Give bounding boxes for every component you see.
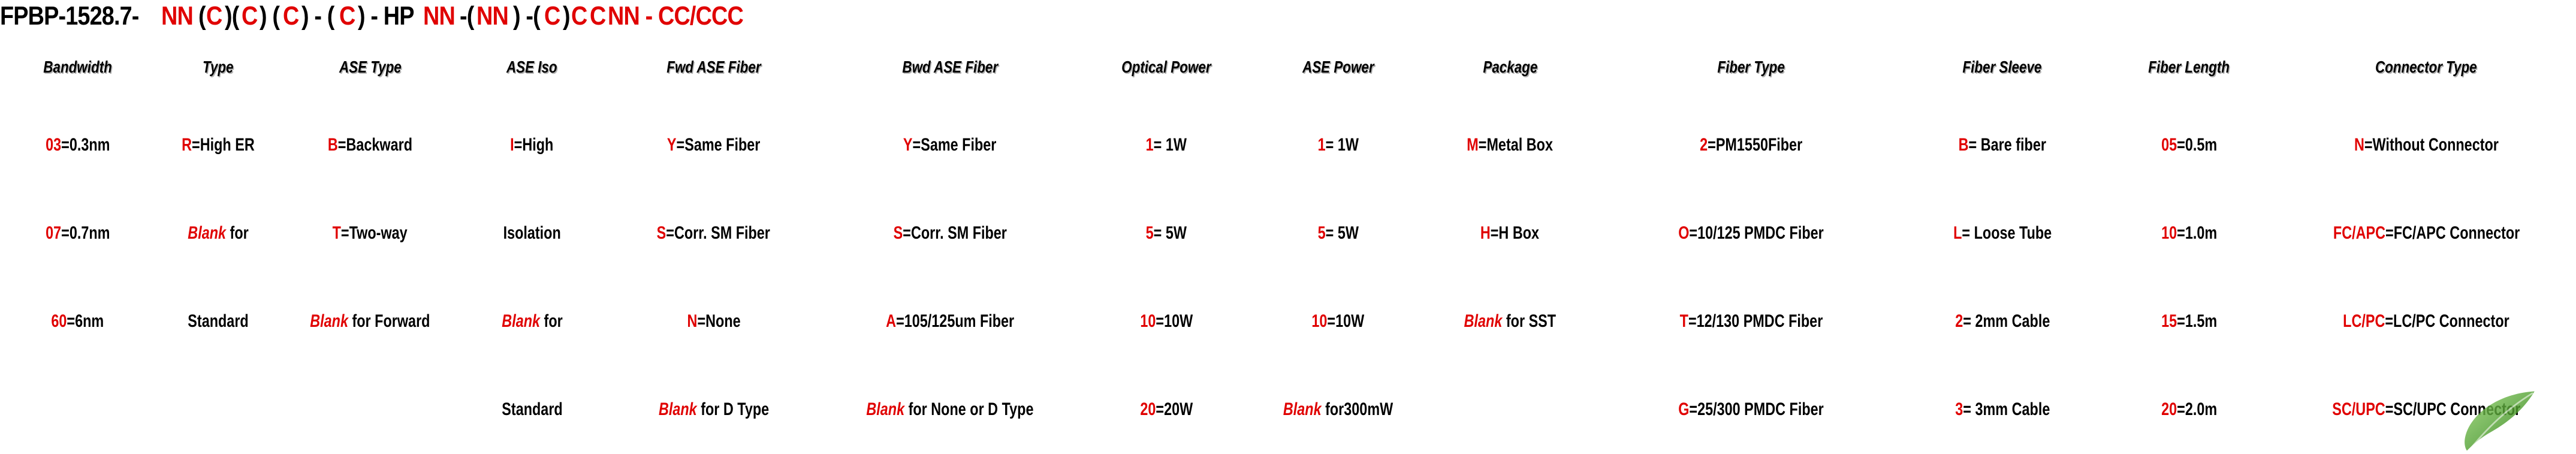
option-description: Two-way xyxy=(349,223,408,243)
option-cell: 10=1.0m xyxy=(2101,189,2276,277)
part-number-segment: -( xyxy=(460,3,473,29)
option-separator: = xyxy=(1690,223,1698,243)
option-description: SC/UPC Connector xyxy=(2393,399,2520,419)
option-separator: = xyxy=(1690,399,1698,419)
option-cell-content: FC/APC=FC/APC Connector xyxy=(2333,223,2520,243)
option-code: LC/PC xyxy=(2343,311,2385,331)
option-code: S xyxy=(657,223,666,243)
option-description: 0.5m xyxy=(2185,135,2217,155)
option-description: Same Fiber xyxy=(921,135,997,155)
option-cell-content: N=None xyxy=(687,311,740,332)
option-description: 1.5m xyxy=(2185,311,2217,331)
option-cell-content: 10=10W xyxy=(1312,311,1365,332)
option-separator: = xyxy=(1963,311,1971,331)
option-description: PM1550Fiber xyxy=(1716,135,1802,155)
option-code: Blank xyxy=(1283,399,1322,419)
option-cell-content: R=High ER xyxy=(182,135,255,155)
option-cell-content: 3= 3mm Cable xyxy=(1955,399,2050,420)
part-number-segment: ) xyxy=(563,3,570,29)
option-description: 2.0m xyxy=(2185,399,2217,419)
option-description: 10W xyxy=(1164,311,1193,331)
option-separator: = xyxy=(2177,311,2185,331)
option-description: 25/300 PMDC Fiber xyxy=(1697,399,1824,419)
option-cell-content: Blank for None or D Type xyxy=(866,399,1033,420)
option-cell: M=Metal Box xyxy=(1421,101,1600,189)
option-description: High xyxy=(523,135,554,155)
option-cell: 10=10W xyxy=(1077,278,1256,366)
option-description: 10W xyxy=(1336,311,1365,331)
option-description: LC/PC Connector xyxy=(2393,311,2509,331)
part-number-segment: C xyxy=(544,3,560,29)
column-header: ASE Type xyxy=(298,34,441,101)
option-description: Same Fiber xyxy=(684,135,760,155)
option-code: 20 xyxy=(1140,399,1156,419)
option-description: Bare fiber xyxy=(1977,135,2046,155)
option-cell: S=Corr. SM Fiber xyxy=(605,189,823,277)
option-description: 0.3nm xyxy=(70,135,110,155)
column-header: Type xyxy=(168,34,269,101)
part-number-segment: ) - HP xyxy=(358,3,414,29)
option-cell-content: A=105/125um Fiber xyxy=(886,311,1014,332)
table-body: 03=0.3nmR=High ERB=BackwardI=HighY=Same … xyxy=(0,101,2576,454)
option-cell: Standard xyxy=(155,278,280,366)
option-code: L xyxy=(1953,223,1962,243)
option-cell: S=Corr. SM Fiber xyxy=(823,189,1078,277)
option-description: 1W xyxy=(1162,135,1187,155)
column-header: Fwd ASE Fiber xyxy=(626,34,801,101)
option-description: FC/APC Connector xyxy=(2393,223,2520,243)
option-cell-content: B= Bare fiber xyxy=(1959,135,2046,155)
option-cell: 03=0.3nm xyxy=(0,101,155,189)
option-code: N xyxy=(2354,135,2364,155)
option-cell-content: 5= 5W xyxy=(1318,223,1359,243)
option-separator: = xyxy=(1156,399,1164,419)
option-code: S xyxy=(893,223,903,243)
option-cell: SC/UPC=SC/UPC Connector xyxy=(2276,366,2576,454)
option-cell-content: Blank for xyxy=(188,223,248,243)
option-code: 10 xyxy=(1312,311,1328,331)
option-code: 20 xyxy=(2161,399,2177,419)
option-description: None xyxy=(705,311,741,331)
option-separator: = xyxy=(2385,223,2394,243)
option-cell: Blank for SST xyxy=(1421,278,1600,366)
option-code: 3 xyxy=(1955,399,1963,419)
option-cell: N=None xyxy=(605,278,823,366)
option-description: 5W xyxy=(1162,223,1187,243)
option-cell: 2=PM1550Fiber xyxy=(1599,101,1903,189)
option-cell-content: Standard xyxy=(188,311,248,332)
option-cell: 1= 1W xyxy=(1077,101,1256,189)
option-cell xyxy=(155,366,280,454)
option-description: for xyxy=(226,223,249,243)
column-header: Fiber Sleeve xyxy=(1923,34,2082,101)
option-code: Blank xyxy=(866,399,904,419)
table-row: 60=6nmStandardBlank for ForwardBlank for… xyxy=(0,278,2576,366)
option-description: H Box xyxy=(1499,223,1540,243)
option-cell: FC/APC=FC/APC Connector xyxy=(2276,189,2576,277)
part-number-segment: NN - CC/CCC xyxy=(608,3,743,29)
option-cell-content: Blank for300mW xyxy=(1283,399,1393,420)
option-code: T xyxy=(333,223,341,243)
option-code: T xyxy=(1680,311,1688,331)
option-cell-content: I=High xyxy=(510,135,553,155)
part-number-segment: ) - ( xyxy=(301,3,334,29)
option-separator: = xyxy=(1479,135,1487,155)
option-cell-content: 05=0.5m xyxy=(2161,135,2217,155)
part-number-segment: C xyxy=(283,3,298,29)
option-cell: 3= 3mm Cable xyxy=(1903,366,2101,454)
option-cell: Blank for xyxy=(459,278,605,366)
table-row: StandardBlank for D TypeBlank for None o… xyxy=(0,366,2576,454)
option-separator: = xyxy=(1962,223,1970,243)
option-description: Without Connector xyxy=(2372,135,2498,155)
option-cell-content: G=25/300 PMDC Fiber xyxy=(1679,399,1824,420)
option-cell: G=25/300 PMDC Fiber xyxy=(1599,366,1903,454)
option-description: Backward xyxy=(346,135,412,155)
option-cell: Y=Same Fiber xyxy=(823,101,1078,189)
option-separator: = xyxy=(61,223,70,243)
option-cell: Blank for300mW xyxy=(1256,366,1421,454)
option-code: 2 xyxy=(1700,135,1708,155)
option-cell-content: M=Metal Box xyxy=(1467,135,1554,155)
option-separator: = xyxy=(2385,311,2394,331)
option-separator: = xyxy=(1969,135,1977,155)
column-header: ASE Iso xyxy=(474,34,590,101)
column-header: Bandwidth xyxy=(16,34,140,101)
option-cell-content: H=H Box xyxy=(1480,223,1539,243)
option-cell-content: 1= 1W xyxy=(1318,135,1359,155)
option-separator: = xyxy=(61,135,70,155)
column-header: Fiber Length xyxy=(2119,34,2259,101)
option-cell: 05=0.5m xyxy=(2101,101,2276,189)
option-code: 60 xyxy=(52,311,67,331)
part-number-segment: NN xyxy=(476,3,508,29)
option-code: 1 xyxy=(1318,135,1326,155)
option-separator: = xyxy=(341,223,349,243)
option-separator: = xyxy=(1156,311,1164,331)
option-code: Blank xyxy=(1464,311,1503,331)
option-description: Loose Tube xyxy=(1970,223,2052,243)
option-description: 3mm Cable xyxy=(1971,399,2050,419)
option-cell: B= Bare fiber xyxy=(1903,101,2101,189)
option-cell-content: 03=0.3nm xyxy=(46,135,110,155)
option-cell-content: Y=Same Fiber xyxy=(667,135,760,155)
option-code: A xyxy=(886,311,896,331)
option-cell: R=High ER xyxy=(155,101,280,189)
option-description: 5W xyxy=(1334,223,1359,243)
option-code: B xyxy=(328,135,338,155)
option-cell-content: 10=1.0m xyxy=(2161,223,2217,243)
option-separator: = xyxy=(913,135,921,155)
part-number-segment: ( xyxy=(198,3,206,29)
option-code: Y xyxy=(903,135,913,155)
option-separator: = xyxy=(514,135,523,155)
option-cell: 07=0.7nm xyxy=(0,189,155,277)
column-header: Package xyxy=(1438,34,1581,101)
part-number-segment: C xyxy=(339,3,355,29)
option-description: 20W xyxy=(1164,399,1193,419)
option-separator: = xyxy=(697,311,705,331)
option-separator: = xyxy=(1154,223,1162,243)
option-description: for xyxy=(540,311,563,331)
option-code: O xyxy=(1679,223,1690,243)
option-description: for Forward xyxy=(348,311,430,331)
option-description: 105/125um Fiber xyxy=(904,311,1014,331)
option-cell: N=Without Connector xyxy=(2276,101,2576,189)
option-cell: Standard xyxy=(459,366,605,454)
option-separator: = xyxy=(1688,311,1697,331)
option-code: R xyxy=(182,135,192,155)
option-cell-content: S=Corr. SM Fiber xyxy=(893,223,1006,243)
option-cell-content: 15=1.5m xyxy=(2161,311,2217,332)
option-description: Standard xyxy=(502,399,562,419)
option-cell: I=High xyxy=(459,101,605,189)
option-cell-content: L= Loose Tube xyxy=(1953,223,2052,243)
option-cell-content: SC/UPC=SC/UPC Connector xyxy=(2332,399,2520,420)
part-number-segment: NN xyxy=(161,3,193,29)
option-description: 1W xyxy=(1334,135,1359,155)
option-code: FC/APC xyxy=(2333,223,2385,243)
part-number-code: FPBP-1528.7-NN(C)(C) (C) - (C) - HPNN -(… xyxy=(0,0,2576,32)
option-separator: = xyxy=(2364,135,2373,155)
option-cell-content: Blank for SST xyxy=(1464,311,1556,332)
option-cell: 10=10W xyxy=(1256,278,1421,366)
option-cell-content: 5= 5W xyxy=(1146,223,1187,243)
option-description: Corr. SM Fiber xyxy=(674,223,770,243)
part-number-segment: C xyxy=(242,3,257,29)
option-code: 5 xyxy=(1146,223,1154,243)
option-cell: L= Loose Tube xyxy=(1903,189,2101,277)
option-cell xyxy=(1421,366,1600,454)
option-cell: Blank for D Type xyxy=(605,366,823,454)
option-cell-content: N=Without Connector xyxy=(2354,135,2499,155)
option-cell: 5= 5W xyxy=(1077,189,1256,277)
option-cell-content: 2=PM1550Fiber xyxy=(1700,135,1802,155)
option-separator: = xyxy=(338,135,346,155)
part-number-segment: NN xyxy=(423,3,455,29)
option-separator: = xyxy=(1708,135,1716,155)
option-code: 1 xyxy=(1146,135,1154,155)
part-number-segment: FPBP-1528.7- xyxy=(0,3,139,29)
option-code: G xyxy=(1679,399,1690,419)
option-code: M xyxy=(1467,135,1479,155)
option-code: 15 xyxy=(2161,311,2177,331)
option-cell-content: LC/PC=LC/PC Connector xyxy=(2343,311,2509,332)
option-cell-content: Isolation xyxy=(503,223,560,243)
column-header: Bwd ASE Fiber xyxy=(848,34,1052,101)
option-separator: = xyxy=(1328,311,1336,331)
option-separator: = xyxy=(896,311,904,331)
option-cell: T=Two-way xyxy=(281,189,460,277)
option-description: 10/125 PMDC Fiber xyxy=(1697,223,1824,243)
table-row: 03=0.3nmR=High ERB=BackwardI=HighY=Same … xyxy=(0,101,2576,189)
option-cell xyxy=(0,366,155,454)
column-header: Fiber Type xyxy=(1630,34,1873,101)
option-code: Blank xyxy=(502,311,540,331)
option-cell: Blank for xyxy=(155,189,280,277)
option-cell: Blank for None or D Type xyxy=(823,366,1078,454)
option-description: 1.0m xyxy=(2185,223,2217,243)
option-description: for SST xyxy=(1502,311,1556,331)
option-code: B xyxy=(1959,135,1969,155)
option-cell: 2= 2mm Cable xyxy=(1903,278,2101,366)
option-cell-content: 20=20W xyxy=(1140,399,1193,420)
option-description: 6nm xyxy=(75,311,104,331)
option-description: High ER xyxy=(200,135,255,155)
option-cell xyxy=(281,366,460,454)
option-cell: 20=20W xyxy=(1077,366,1256,454)
option-cell: H=H Box xyxy=(1421,189,1600,277)
part-number-segment: ) -( xyxy=(513,3,540,29)
option-cell-content: Blank for Forward xyxy=(310,311,430,332)
option-cell: LC/PC=LC/PC Connector xyxy=(2276,278,2576,366)
option-cell-content: 2= 2mm Cable xyxy=(1955,311,2050,332)
option-cell-content: Y=Same Fiber xyxy=(903,135,996,155)
option-description: Corr. SM Fiber xyxy=(911,223,1007,243)
option-separator: = xyxy=(1963,399,1971,419)
option-cell-content: O=10/125 PMDC Fiber xyxy=(1679,223,1824,243)
option-cell: Blank for Forward xyxy=(281,278,460,366)
option-description: for None or D Type xyxy=(904,399,1033,419)
ordering-information-table: BandwidthTypeASE TypeASE IsoFwd ASE Fibe… xyxy=(0,34,2576,454)
option-code: 07 xyxy=(46,223,61,243)
option-cell: 5= 5W xyxy=(1256,189,1421,277)
option-cell-content: T=Two-way xyxy=(333,223,408,243)
column-header: Optical Power xyxy=(1095,34,1238,101)
option-code: 03 xyxy=(46,135,61,155)
option-cell-content: Blank for D Type xyxy=(659,399,769,420)
option-description: Standard xyxy=(188,311,248,331)
option-separator: = xyxy=(666,223,675,243)
table-row: 07=0.7nmBlank forT=Two-wayIsolationS=Cor… xyxy=(0,189,2576,277)
part-number-segment: C xyxy=(571,3,587,29)
option-cell-content: Standard xyxy=(502,399,562,420)
option-separator: = xyxy=(2177,135,2185,155)
option-cell-content: Blank for xyxy=(502,311,562,332)
option-separator: = xyxy=(1154,135,1162,155)
option-code: Blank xyxy=(188,223,226,243)
option-description: for D Type xyxy=(696,399,768,419)
option-cell-content: 1= 1W xyxy=(1146,135,1187,155)
part-number-segment: )( xyxy=(225,3,239,29)
option-separator: = xyxy=(67,311,76,331)
option-separator: = xyxy=(2177,399,2185,419)
option-cell-content: 10=10W xyxy=(1140,311,1193,332)
option-description: Metal Box xyxy=(1487,135,1554,155)
option-cell: A=105/125um Fiber xyxy=(823,278,1078,366)
part-number-segment: C xyxy=(206,3,222,29)
table-header-row: BandwidthTypeASE TypeASE IsoFwd ASE Fibe… xyxy=(0,34,2576,101)
option-cell: 1= 1W xyxy=(1256,101,1421,189)
column-header: Connector Type xyxy=(2306,34,2546,101)
option-cell: Isolation xyxy=(459,189,605,277)
option-code: Y xyxy=(667,135,677,155)
option-code: 5 xyxy=(1318,223,1326,243)
option-code: Blank xyxy=(659,399,697,419)
option-description: for300mW xyxy=(1322,399,1393,419)
option-description: 0.7nm xyxy=(70,223,110,243)
part-number-segment: ) ( xyxy=(260,3,279,29)
part-number-segment: C xyxy=(590,3,605,29)
option-code: 2 xyxy=(1955,311,1963,331)
option-code: 05 xyxy=(2161,135,2177,155)
option-separator: = xyxy=(2385,399,2394,419)
option-code: 10 xyxy=(1140,311,1156,331)
option-separator: = xyxy=(1491,223,1499,243)
option-code: N xyxy=(687,311,697,331)
option-separator: = xyxy=(1326,135,1334,155)
option-separator: = xyxy=(1326,223,1334,243)
option-cell: O=10/125 PMDC Fiber xyxy=(1599,189,1903,277)
option-cell-content: 20=2.0m xyxy=(2161,399,2217,420)
option-separator: = xyxy=(2177,223,2185,243)
option-cell-content: S=Corr. SM Fiber xyxy=(657,223,770,243)
option-code: 10 xyxy=(2161,223,2177,243)
option-cell: T=12/130 PMDC Fiber xyxy=(1599,278,1903,366)
option-cell-content: T=12/130 PMDC Fiber xyxy=(1680,311,1823,332)
option-cell: 15=1.5m xyxy=(2101,278,2276,366)
option-code: H xyxy=(1480,223,1491,243)
option-description: Isolation xyxy=(503,223,560,243)
option-cell: 20=2.0m xyxy=(2101,366,2276,454)
option-cell: Y=Same Fiber xyxy=(605,101,823,189)
option-cell-content: 07=0.7nm xyxy=(46,223,110,243)
option-description: 2mm Cable xyxy=(1971,311,2050,331)
option-cell: 60=6nm xyxy=(0,278,155,366)
option-separator: = xyxy=(903,223,911,243)
column-header: ASE Power xyxy=(1272,34,1404,101)
option-code: Blank xyxy=(310,311,348,331)
option-separator: = xyxy=(677,135,685,155)
option-cell: B=Backward xyxy=(281,101,460,189)
option-separator: = xyxy=(192,135,200,155)
option-description: 12/130 PMDC Fiber xyxy=(1697,311,1823,331)
option-cell-content: B=Backward xyxy=(328,135,412,155)
option-code: SC/UPC xyxy=(2332,399,2385,419)
option-cell-content: 60=6nm xyxy=(52,311,104,332)
